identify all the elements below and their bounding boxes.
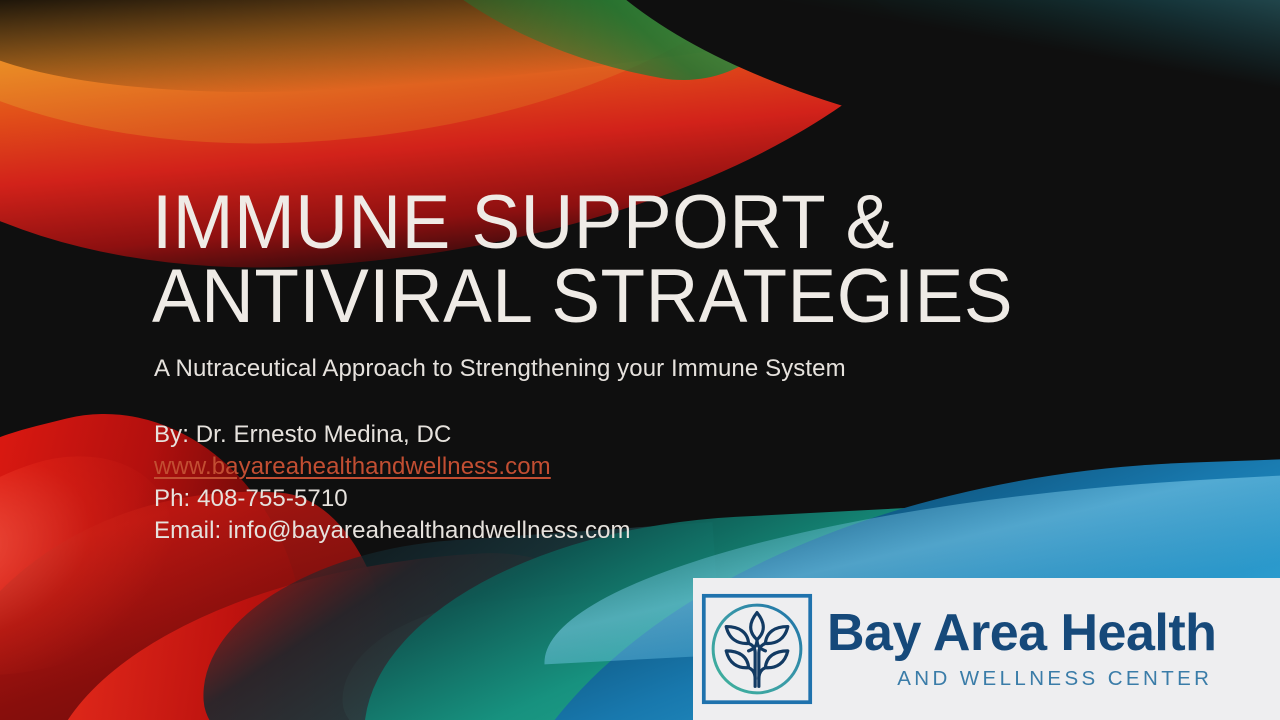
- website-link[interactable]: www.bayareahealthandwellness.com: [154, 451, 551, 483]
- ribbon-green-top-right: [322, 0, 818, 98]
- slide-content: IMMUNE SUPPORT & ANTIVIRAL STRATEGIES A …: [152, 186, 1052, 548]
- ribbon-top-right-shadow: [529, 0, 1280, 193]
- contact-block: By: Dr. Ernesto Medina, DC www.bayareahe…: [154, 419, 1052, 548]
- ribbon-cyan-top-right: [742, 0, 1280, 143]
- contact-author: By: Dr. Ernesto Medina, DC: [154, 419, 1052, 451]
- contact-website-line: www.bayareahealthandwellness.com: [154, 451, 1052, 483]
- slide-title: IMMUNE SUPPORT & ANTIVIRAL STRATEGIES: [152, 186, 1016, 335]
- slide-subtitle: A Nutraceutical Approach to Strengthenin…: [154, 355, 1052, 383]
- logo-text-group: Bay Area Health AND WELLNESS CENTER: [827, 607, 1216, 691]
- logo-name: Bay Area Health: [827, 607, 1216, 659]
- contact-email: Email: info@bayareahealthandwellness.com: [154, 515, 1052, 547]
- ribbon-dark-bottom-right: [194, 522, 727, 720]
- logo-tagline: AND WELLNESS CENTER: [827, 667, 1216, 691]
- contact-phone: Ph: 408-755-5710: [154, 483, 1052, 515]
- tree-of-life-icon: [701, 593, 813, 705]
- ribbon-warm-dark-slash: [0, 0, 1123, 119]
- ribbon-red-bottom-sweep: [34, 543, 687, 720]
- ribbon-cream-bottom-right: [335, 585, 685, 720]
- logo-card: Bay Area Health AND WELLNESS CENTER: [693, 578, 1280, 720]
- ribbon-warm-top-left-inner: [0, 0, 891, 168]
- presentation-slide: IMMUNE SUPPORT & ANTIVIRAL STRATEGIES A …: [0, 0, 1280, 720]
- ribbon-navy-bottom-right: [357, 640, 643, 720]
- ribbon-teal-top-right: [613, 0, 1280, 176]
